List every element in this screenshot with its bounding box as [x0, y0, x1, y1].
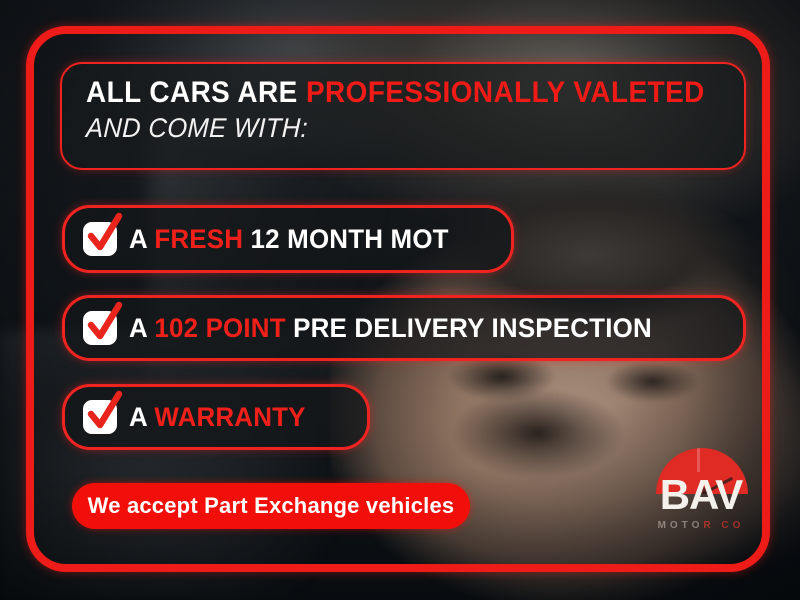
bav-motor-co-logo: BAV MOTOR CO	[638, 448, 764, 552]
feature-1-suffix: 12 MONTH MOT	[243, 224, 449, 254]
feature-2-suffix: PRE DELIVERY INSPECTION	[286, 313, 652, 343]
feature-3-highlight: WARRANTY	[154, 402, 305, 432]
logo-wordmark: BAV	[638, 474, 764, 516]
feature-item-inspection-label: A 102 POINT PRE DELIVERY INSPECTION	[129, 313, 652, 344]
logo-subtitle-left: MOTO	[658, 520, 704, 531]
feature-item-mot[interactable]: A FRESH 12 MONTH MOT	[62, 205, 514, 273]
promotional-banner: ALL CARS ARE PROFESSIONALLY VALETED AND …	[0, 0, 800, 600]
feature-item-warranty-label: A WARRANTY	[129, 402, 306, 433]
part-exchange-badge[interactable]: We accept Part Exchange vehicles	[72, 483, 470, 529]
checkbox-checked-icon	[83, 222, 117, 256]
checkbox-checked-icon	[83, 311, 117, 345]
part-exchange-label: We accept Part Exchange vehicles	[88, 493, 455, 519]
headline-box: ALL CARS ARE PROFESSIONALLY VALETED AND …	[60, 62, 746, 170]
logo-subtitle: MOTOR CO	[638, 520, 764, 531]
feature-1-prefix: A	[129, 224, 154, 254]
feature-item-warranty[interactable]: A WARRANTY	[62, 384, 370, 450]
feature-3-prefix: A	[129, 402, 154, 432]
feature-item-inspection[interactable]: A 102 POINT PRE DELIVERY INSPECTION	[62, 295, 746, 361]
checkbox-checked-icon	[83, 400, 117, 434]
feature-1-highlight: FRESH	[154, 224, 243, 254]
headline-line-1: ALL CARS ARE PROFESSIONALLY VALETED	[86, 76, 679, 111]
banner-content: ALL CARS ARE PROFESSIONALLY VALETED AND …	[0, 0, 800, 600]
feature-item-mot-label: A FRESH 12 MONTH MOT	[129, 224, 449, 255]
headline-line-2: AND COME WITH:	[85, 113, 692, 144]
feature-2-prefix: A	[129, 313, 154, 343]
feature-2-highlight: 102 POINT	[154, 313, 285, 343]
headline-line-1-highlight: PROFESSIONALLY VALETED	[306, 76, 705, 109]
gauge-gap	[697, 448, 700, 472]
headline-line-1-plain: ALL CARS ARE	[86, 76, 306, 109]
logo-subtitle-right: R CO	[703, 520, 744, 531]
